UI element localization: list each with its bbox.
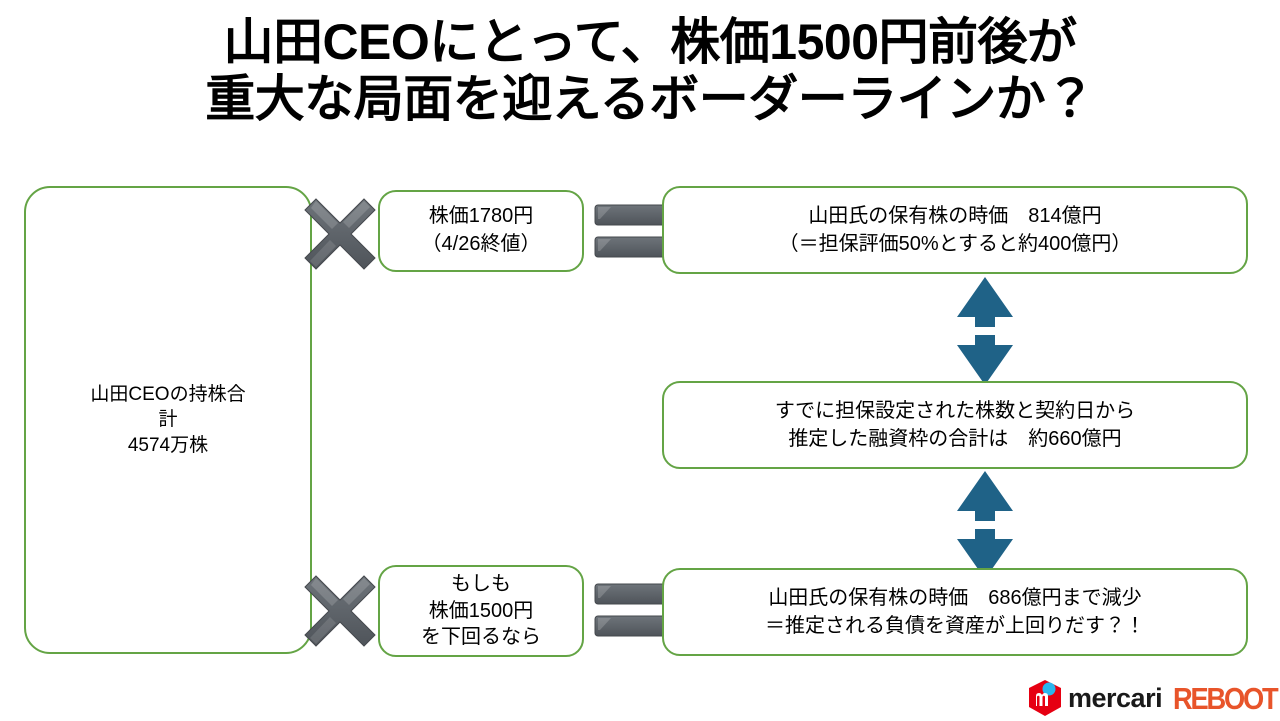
box-current-share-price: 株価1780円 （4/26終値） [378, 190, 584, 272]
box-ceo-holdings: 山田CEOの持株合 計 4574万株 [24, 186, 312, 654]
multiply-icon-bottom [302, 573, 378, 649]
box-market-value-scenario: 山田氏の保有株の時価 686億円まで減少 ＝推定される負債を資産が上回りだす？！ [662, 568, 1248, 656]
equals-icon-bottom [594, 581, 666, 639]
mercari-wordmark: mercari [1068, 685, 1162, 712]
mercari-reboot-logo: mercari REBOOT [1028, 679, 1280, 717]
slide-canvas: 山田CEOにとって、株価1500円前後が 重大な局面を迎えるボーダーラインか？ … [0, 0, 1280, 720]
box-market-value-current: 山田氏の保有株の時価 814億円 （＝担保評価50%とすると約400億円） [662, 186, 1248, 274]
page-title: 山田CEOにとって、株価1500円前後が 重大な局面を迎えるボーダーラインか？ [60, 14, 1240, 128]
box-scenario-share-price-text: もしも 株価1500円 を下回るなら [380, 571, 582, 650]
box-scenario-share-price: もしも 株価1500円 を下回るなら [378, 565, 584, 657]
mercari-logo-icon [1028, 680, 1062, 716]
box-market-value-current-text: 山田氏の保有株の時価 814億円 （＝担保評価50%とすると約400億円） [664, 202, 1246, 259]
equals-icon-top [594, 202, 666, 260]
box-estimated-loan-total-text: すでに担保設定された株数と契約日から 推定した融資枠の合計は 約660億円 [664, 397, 1246, 454]
box-market-value-scenario-text: 山田氏の保有株の時価 686億円まで減少 ＝推定される負債を資産が上回りだす？！ [664, 584, 1246, 641]
box-current-share-price-text: 株価1780円 （4/26終値） [380, 203, 582, 258]
box-ceo-holdings-text: 山田CEOの持株合 計 4574万株 [26, 382, 310, 459]
double-arrow-icon-lower [952, 471, 1018, 579]
box-estimated-loan-total: すでに担保設定された株数と契約日から 推定した融資枠の合計は 約660億円 [662, 381, 1248, 469]
multiply-icon-top [302, 196, 378, 272]
double-arrow-icon-upper [952, 277, 1018, 385]
reboot-campaign-label: REBOOT [1173, 683, 1277, 714]
